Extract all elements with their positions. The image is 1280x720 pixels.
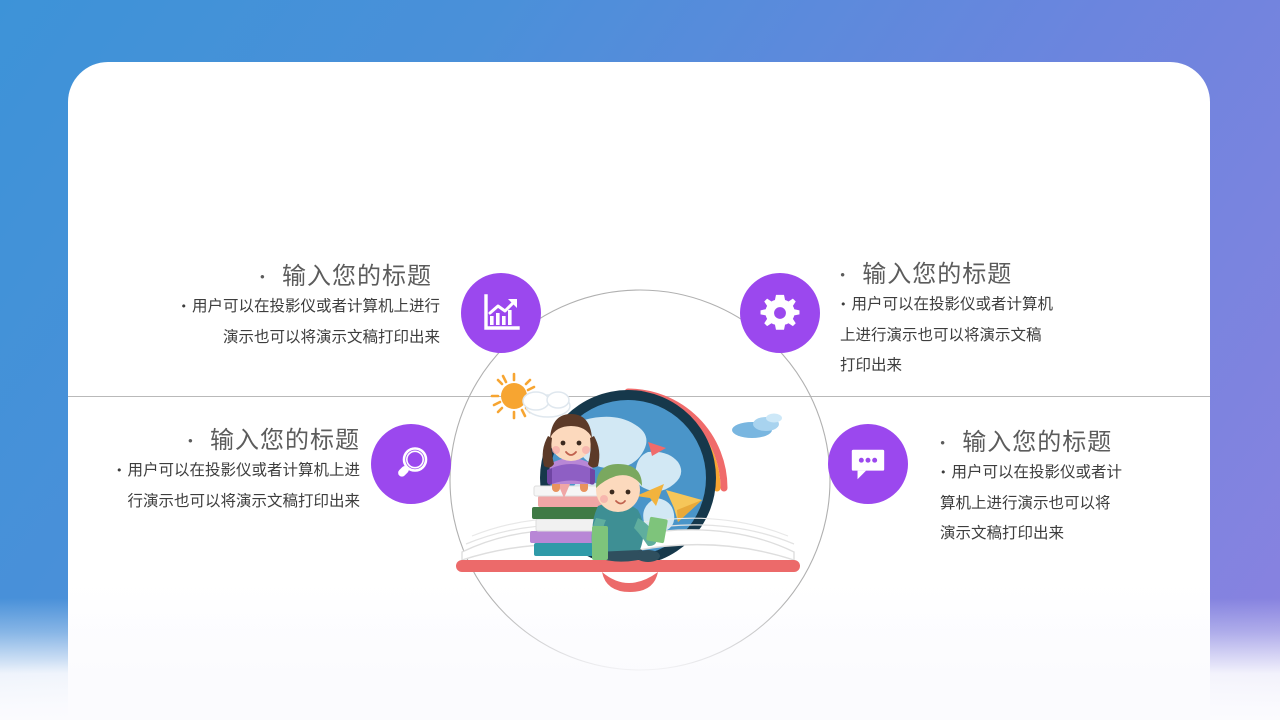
chat-bubble-icon [847, 444, 889, 484]
body-line-text: 演示也可以将演示文稿打印出来 [223, 328, 440, 346]
block-bottom-right: •输入您的标题 •用户可以在投影仪或者计 算机上进行演示也可以将 演示文稿打印出… [940, 422, 1240, 548]
body-line: 算机上进行演示也可以将 [940, 488, 1240, 518]
body-line-text: 用户可以在投影仪或者计 [952, 463, 1123, 481]
title-text: 输入您的标题 [862, 262, 1012, 288]
body-line-text: 用户可以在投影仪或者计算机 [852, 295, 1054, 313]
chart-growth-icon [479, 291, 523, 335]
body-line-text: 行演示也可以将演示文稿打印出来 [127, 492, 360, 510]
body-line: •用户可以在投影仪或者计算机上进 [60, 455, 360, 486]
body-line: 演示也可以将演示文稿打印出来 [60, 322, 440, 352]
body-line: 打印出来 [840, 350, 1170, 380]
body-line: 行演示也可以将演示文稿打印出来 [60, 486, 360, 516]
cloud-icon [523, 392, 570, 417]
block-title: •输入您的标题 [940, 422, 1240, 457]
foreground-cloud [0, 598, 1280, 720]
body-line-text: 演示文稿打印出来 [940, 524, 1064, 542]
body-line: •用户可以在投影仪或者计算机上进行 [60, 291, 440, 322]
block-title: •输入您的标题 [60, 420, 360, 455]
title-bullet: • [840, 268, 846, 284]
body-line: •用户可以在投影仪或者计算机 [840, 289, 1170, 320]
title-bullet: • [940, 436, 946, 452]
body-line-text: 用户可以在投影仪或者计算机上进 [127, 461, 360, 479]
body-line-text: 打印出来 [840, 356, 902, 374]
block-body: •用户可以在投影仪或者计算机 上进行演示也可以将演示文稿 打印出来 [840, 289, 1170, 380]
title-text: 输入您的标题 [210, 428, 360, 454]
block-bottom-left: •输入您的标题 •用户可以在投影仪或者计算机上进 行演示也可以将演示文稿打印出来 [60, 420, 360, 516]
body-bullet: • [180, 300, 187, 313]
body-bullet: • [940, 466, 947, 479]
block-title: •输入您的标题 [840, 254, 1170, 289]
gear-icon [759, 292, 801, 334]
body-line: 演示文稿打印出来 [940, 518, 1240, 548]
central-illustration [452, 368, 808, 598]
book-cover [456, 560, 800, 572]
block-body: •用户可以在投影仪或者计算机上进 行演示也可以将演示文稿打印出来 [60, 455, 360, 516]
icon-circle-chart[interactable] [461, 273, 541, 353]
body-line: 上进行演示也可以将演示文稿 [840, 320, 1170, 350]
body-line-text: 用户可以在投影仪或者计算机上进行 [192, 297, 440, 315]
body-line: •用户可以在投影仪或者计 [940, 457, 1240, 488]
magnifier-icon [389, 442, 433, 486]
block-top-right: •输入您的标题 •用户可以在投影仪或者计算机 上进行演示也可以将演示文稿 打印出… [840, 254, 1170, 380]
small-cloud-icon [732, 414, 782, 439]
block-top-left: •输入您的标题 •用户可以在投影仪或者计算机上进行 演示也可以将演示文稿打印出来 [60, 256, 440, 352]
title-bullet: • [260, 270, 266, 286]
body-line-text: 算机上进行演示也可以将 [940, 494, 1111, 512]
icon-circle-search[interactable] [371, 424, 451, 504]
body-bullet: • [840, 298, 847, 311]
block-body: •用户可以在投影仪或者计算机上进行 演示也可以将演示文稿打印出来 [60, 291, 440, 352]
icon-circle-chat[interactable] [828, 424, 908, 504]
title-text: 输入您的标题 [962, 430, 1112, 456]
title-bullet: • [188, 434, 194, 450]
block-body: •用户可以在投影仪或者计 算机上进行演示也可以将 演示文稿打印出来 [940, 457, 1240, 548]
icon-circle-gear[interactable] [740, 273, 820, 353]
title-text: 输入您的标题 [282, 264, 432, 290]
body-line-text: 上进行演示也可以将演示文稿 [840, 326, 1042, 344]
body-bullet: • [116, 464, 123, 477]
block-title: •输入您的标题 [60, 256, 440, 291]
